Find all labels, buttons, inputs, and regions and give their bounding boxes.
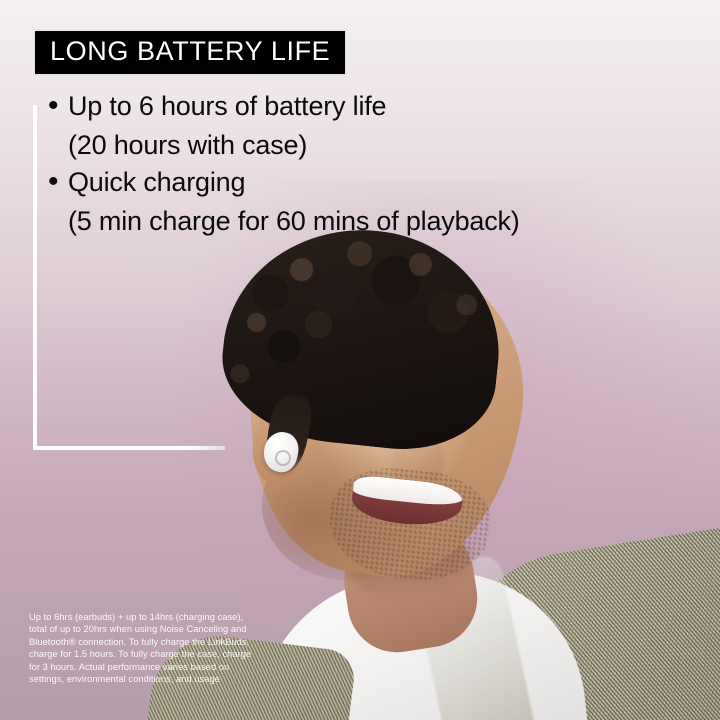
page-title: LONG BATTERY LIFE	[50, 38, 330, 65]
feature-list: • Up to 6 hours of battery life (20 hour…	[48, 88, 668, 240]
bracket-horizontal-rule	[33, 446, 225, 450]
promo-card: LONG BATTERY LIFE • Up to 6 hours of bat…	[0, 0, 720, 720]
disclaimer-line: total of up to 20hrs when using Noise Ca…	[29, 623, 291, 635]
bracket-vertical-rule	[33, 105, 37, 450]
headline-banner: LONG BATTERY LIFE	[33, 29, 347, 76]
disclaimer: Up to 6hrs (earbuds) + up to 14hrs (char…	[29, 611, 291, 685]
list-item: • Up to 6 hours of battery life	[48, 88, 668, 125]
list-item-label: Quick charging	[68, 164, 245, 201]
bullet-dot-icon: •	[48, 164, 68, 200]
disclaimer-line: Up to 6hrs (earbuds) + up to 14hrs (char…	[29, 611, 291, 623]
hair-curls	[211, 214, 512, 462]
disclaimer-line: for 3 hours. Actual performance varies b…	[29, 661, 291, 673]
bullet-dot-icon: •	[48, 88, 68, 124]
disclaimer-line: Bluetooth® connection. To fully charge t…	[29, 636, 291, 648]
list-item-label: Up to 6 hours of battery life	[68, 88, 386, 125]
list-item: • Quick charging	[48, 164, 668, 201]
list-item-detail: (20 hours with case)	[68, 127, 668, 164]
disclaimer-line: charge for 1.5 hours. To fully charge th…	[29, 648, 291, 660]
disclaimer-line: settings, environmental conditions, and …	[29, 673, 291, 685]
list-item-detail: (5 min charge for 60 mins of playback)	[68, 203, 668, 240]
